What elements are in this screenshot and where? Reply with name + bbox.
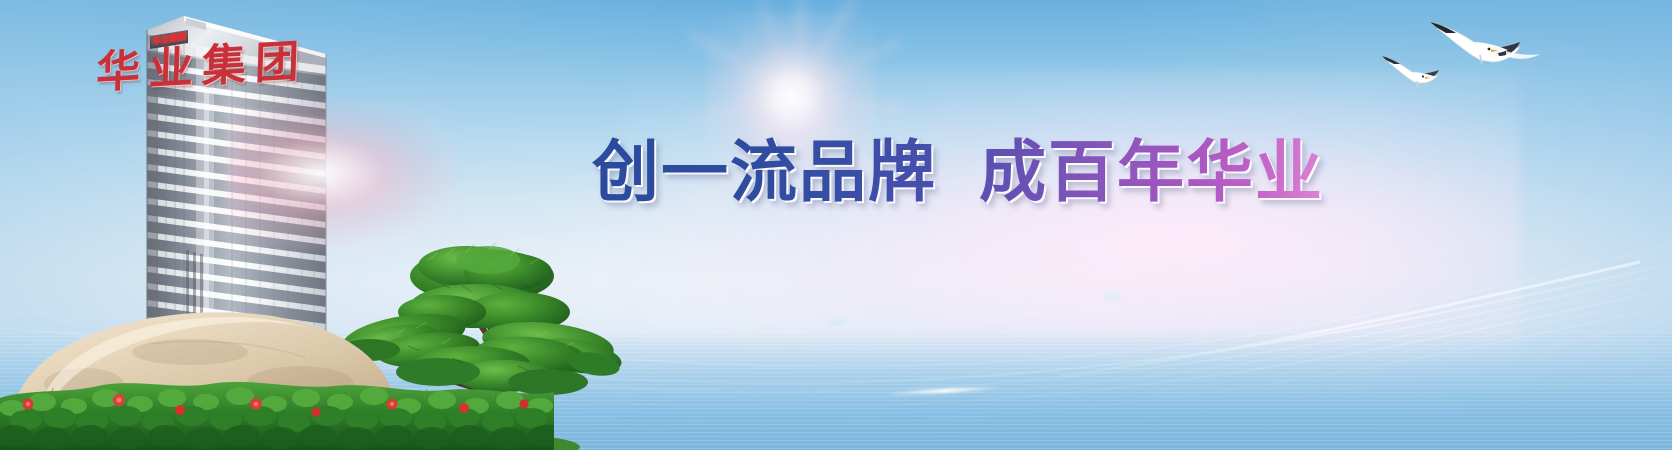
slogan-line-1: 创一流品牌 bbox=[592, 133, 937, 211]
seagull-icon bbox=[1424, 4, 1554, 84]
slogan-line-2: 成百年华业 bbox=[979, 133, 1324, 211]
banner-slogan: 创一流品牌成百年华业 bbox=[592, 133, 1324, 211]
hero-banner: 华业集团 bbox=[0, 0, 1672, 450]
hedge-shrub-row bbox=[0, 374, 554, 450]
